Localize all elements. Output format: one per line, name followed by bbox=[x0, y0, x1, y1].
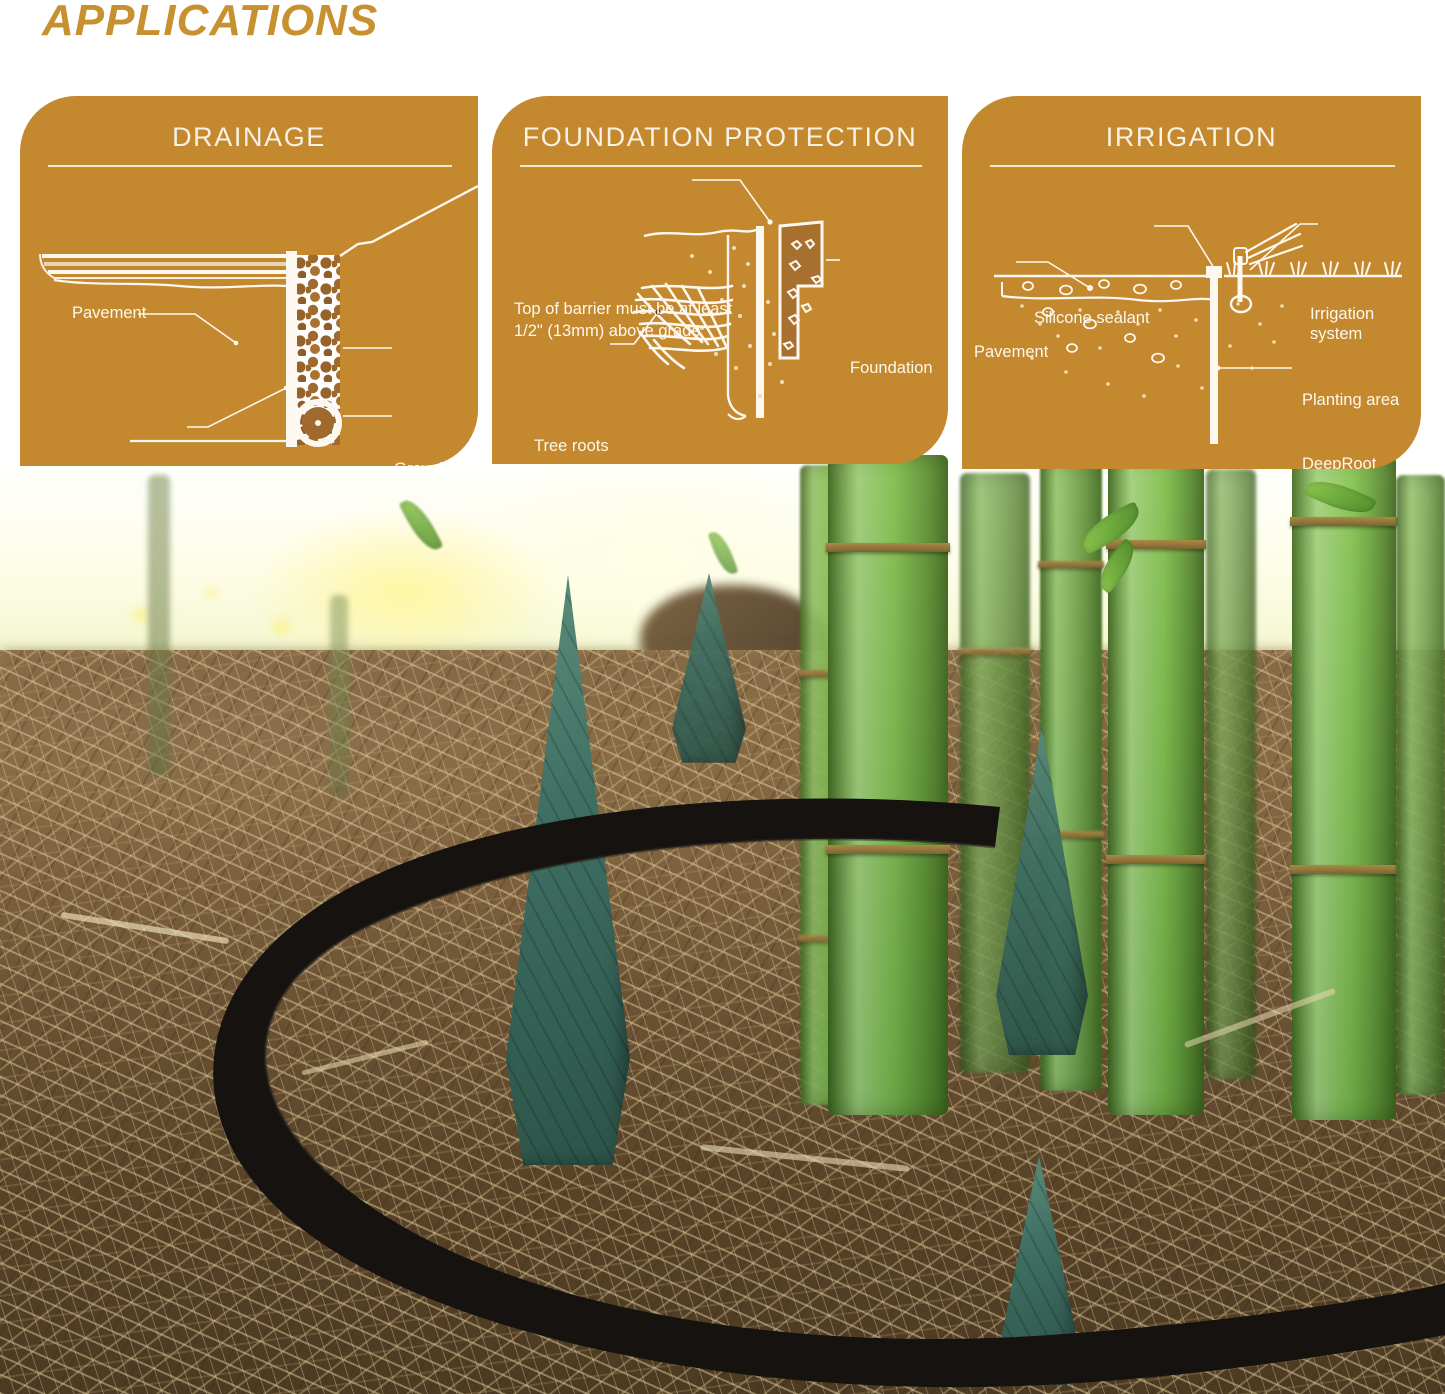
card-drainage: DRAINAGE bbox=[20, 96, 478, 466]
root-barrier-ring bbox=[0, 455, 1445, 1394]
foundation-label-tree-roots: Tree roots bbox=[534, 436, 609, 456]
card-irrigation: IRRIGATION bbox=[962, 96, 1421, 469]
drainage-diagram bbox=[20, 96, 478, 466]
page-title: APPLICATIONS bbox=[42, 0, 378, 46]
foundation-label-height-note: Top of barrier must be at least 1/2" (13… bbox=[514, 298, 732, 342]
card-foundation-protection: FOUNDATION PROTECTION bbox=[492, 96, 948, 464]
irrigation-label-irrigation-system: Irrigation system bbox=[1310, 304, 1421, 345]
infographic-page: APPLICATIONS DRAINAGE bbox=[0, 0, 1445, 1394]
foundation-diagram bbox=[492, 96, 948, 464]
irrigation-label-water-barrier: DeepRoot Water Barrier bbox=[1302, 454, 1400, 469]
irrigation-label-pavement: Pavement bbox=[974, 342, 1048, 362]
irrigation-diagram bbox=[962, 96, 1421, 469]
drainage-label-gravel: Gravel bbox=[394, 459, 443, 466]
foundation-label-foundation: Foundation bbox=[850, 358, 933, 378]
drainage-label-pavement: Pavement bbox=[72, 303, 146, 323]
irrigation-label-planting-area: Planting area bbox=[1302, 390, 1399, 410]
irrigation-label-silicone-sealant: Silicone sealant bbox=[1034, 308, 1150, 328]
product-photo bbox=[0, 455, 1445, 1394]
